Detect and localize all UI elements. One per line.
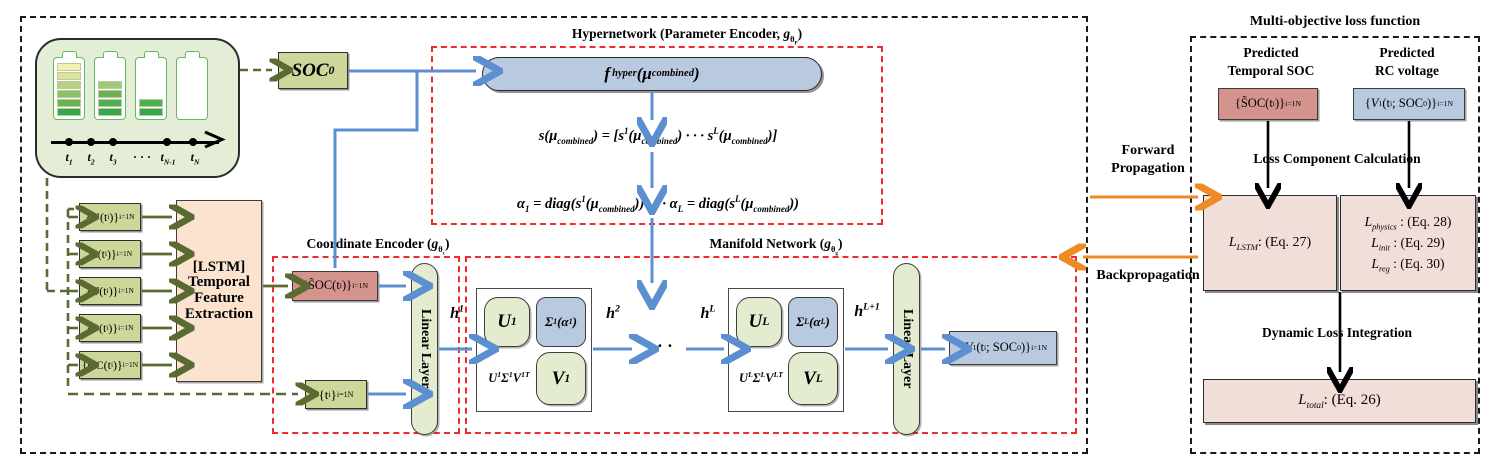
battery-bar (98, 81, 122, 89)
hL-label: hL (694, 305, 722, 323)
lstm-line-4: Extraction (185, 307, 253, 323)
battery-t3 (135, 57, 167, 120)
battery-bar (57, 90, 81, 98)
init-loss-label: Linit : (Eq. 29) (1371, 235, 1444, 251)
time-axis-tick-dot (109, 138, 117, 146)
battery-t2 (94, 57, 126, 120)
forward-label-line-2: Propagation (1084, 160, 1212, 178)
tick-label-tN-1: tN-1 (151, 150, 185, 165)
cc-input-box: {CC(ti)}i=1N (79, 351, 141, 379)
V1-box: V1 (536, 352, 586, 405)
U1-box: U1 (484, 297, 530, 347)
predicted-soc-heading-line-1: Predicted (1203, 44, 1339, 62)
hL-plus-1-label: hL+1 (848, 303, 886, 321)
battery-bar (98, 90, 122, 98)
coordinate-linear-layer-label: Linear Layer (417, 309, 432, 388)
battery-bar (57, 108, 81, 116)
battery-bar (57, 99, 81, 107)
s-equation: s(μcombined) = [s1(μcombined) · · · sL(μ… (438, 128, 878, 145)
forward-propagation-label: Forward Propagation (1084, 142, 1212, 177)
hypernetwork-caption: Hypernetwork (Parameter Encoder, gθP) (497, 26, 877, 43)
battery-tN (176, 57, 208, 120)
battery-cap-icon (103, 51, 118, 58)
physics-loss-label: Lphysics : (Eq. 28) (1365, 214, 1452, 230)
predicted-rc-heading-line-2: RC voltage (1339, 62, 1475, 80)
time-axis-tick-dot (189, 138, 197, 146)
battery-bar (57, 72, 81, 80)
time-coordinate-box: {ti}i=1N (305, 380, 367, 409)
battery-bar (139, 108, 163, 116)
soc0-box: SOC0 (278, 52, 348, 89)
loss-predicted-rc-box: {V1(ti; SOC0)}i=1N (1353, 88, 1465, 120)
tick-label-t1: t1 (57, 150, 81, 165)
battery-bar (139, 99, 163, 107)
current-input-box: {I(ti)}i=1N (79, 240, 141, 268)
UL-box: UL (736, 297, 782, 347)
total-loss-box: Ltotal : (Eq. 26) (1203, 379, 1476, 423)
time-axis-tick-dot (87, 138, 95, 146)
manifold-layer-L-block: UL ΣL(αL) VL ULΣLVLT (728, 288, 844, 412)
voltage-input-box: {V(ti)}i=1N (79, 203, 141, 231)
predicted-rc-heading: Predicted RC voltage (1339, 44, 1475, 79)
battery-cap-icon (144, 51, 159, 58)
battery-t1 (53, 57, 85, 120)
battery-bar (98, 108, 122, 116)
f-hyper-box: f hyper(μcombined) (482, 57, 822, 91)
tick-label-t2: t2 (79, 150, 103, 165)
manifold-network-caption: Manifold Network (gθg) (668, 236, 884, 253)
loss-predicted-soc-box: {S̃OC(ti)}i=1N (1218, 88, 1318, 120)
time-axis-tick-dot (163, 138, 171, 146)
manifold-ellipsis: · · · (638, 336, 682, 356)
manifold-layer-1-block: U1 Σ1(α1) V1 U1Σ1V1T (476, 288, 592, 412)
reg-loss-label: Lreg : (Eq. 30) (1371, 256, 1444, 272)
backpropagation-label: Backpropagation (1077, 268, 1219, 284)
dynamic-loss-integration-label: Dynamic Loss Integration (1198, 325, 1476, 341)
predicted-soc-temporal-box: {S̃OC(ti)}i=1N (292, 271, 378, 301)
battery-bar (57, 63, 81, 71)
coordinate-linear-layer: Linear Layer (411, 263, 438, 435)
Sigma1-box: Σ1(α1) (536, 297, 586, 347)
lstm-line-1: [LSTM] (193, 260, 246, 276)
U1-sigma1-V1T-label: U1Σ1V1T (481, 371, 537, 386)
loss-panel-title: Multi-objective loss function (1190, 14, 1480, 30)
forward-label-line-1: Forward (1084, 142, 1212, 160)
alpha-equation: α1 = diag(s1(μcombined)) · · · αL = diag… (436, 196, 880, 213)
battery-bar (57, 81, 81, 89)
coordinate-encoder-caption: Coordinate Encoder (gθc) (270, 236, 486, 253)
physics-loss-box: Lphysics : (Eq. 28) Linit : (Eq. 29) Lre… (1340, 195, 1476, 291)
battery-cap-icon (62, 51, 77, 58)
manifold-linear-layer-label: Linear Layer (899, 309, 914, 388)
lstm-line-2: Temporal (188, 275, 250, 291)
SigmaL-box: ΣL(αL) (788, 297, 838, 347)
lstm-temporal-feature-extraction-block: [LSTM] Temporal Feature Extraction (176, 200, 262, 382)
h1-label: h1 (444, 305, 470, 323)
lstm-line-3: Feature (194, 291, 244, 307)
manifold-linear-layer: Linear Layer (893, 263, 920, 435)
battery-cap-icon (185, 51, 200, 58)
diagram-root: t1 t2 t3 · · · tN-1 tN SOC0 {V(ti)}i=1N … (0, 0, 1510, 468)
loss-component-calculation-label: Loss Component Calculation (1198, 151, 1476, 167)
battery-timeline-panel: t1 t2 t3 · · · tN-1 tN (35, 38, 240, 178)
lstm-loss-box: LLSTM : (Eq. 27) (1203, 195, 1337, 291)
time-axis-tick-dot (65, 138, 73, 146)
tick-label-tN: tN (183, 150, 207, 165)
h2-label: h2 (600, 305, 626, 323)
temperature-input-box: {T(ti)}i=1N (79, 277, 141, 305)
predicted-soc-heading: Predicted Temporal SOC (1203, 44, 1339, 79)
predicted-rc-heading-line-1: Predicted (1339, 44, 1475, 62)
VL-box: VL (788, 352, 838, 405)
UL-sigmaL-VLT-label: ULΣLVLT (733, 371, 789, 386)
predicted-soc-heading-line-2: Temporal SOC (1203, 62, 1339, 80)
battery-bar (98, 99, 122, 107)
power-input-box: {P(ti)}i=1N (79, 314, 141, 342)
rc-voltage-output-box: {V1(ti; SOC0)}i=1N (949, 331, 1057, 365)
tick-label-t3: t3 (101, 150, 125, 165)
